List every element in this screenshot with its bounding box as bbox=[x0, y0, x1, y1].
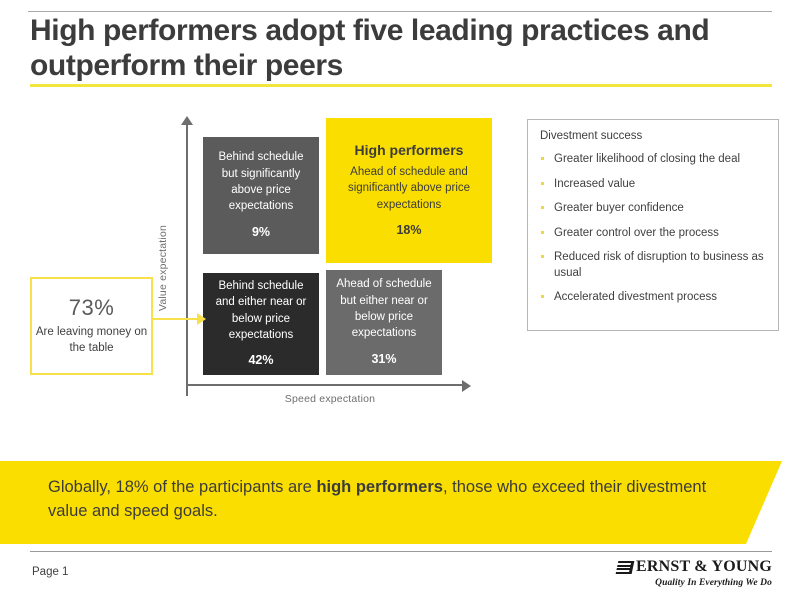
quadrant-top-left[interactable]: Behind schedule but significantly above … bbox=[203, 137, 319, 254]
divestment-success-list: Greater likelihood of closing the deal I… bbox=[540, 152, 768, 306]
quadrant-top-left-body: Behind schedule but significantly above … bbox=[211, 149, 311, 214]
summary-banner-text: Globally, 18% of the participants are hi… bbox=[48, 476, 728, 524]
quadrant-bottom-right-body: Ahead of schedule but either near or bel… bbox=[334, 276, 434, 341]
list-item: Greater control over the process bbox=[540, 226, 768, 242]
list-item: Increased value bbox=[540, 177, 768, 193]
speed-axis-label: Speed expectation bbox=[220, 393, 440, 405]
logo-wordmark-text: ERNST & YOUNG bbox=[636, 558, 772, 576]
speed-axis-line bbox=[186, 384, 464, 386]
list-item-label: Increased value bbox=[554, 178, 635, 190]
list-item: Reduced risk of disruption to business a… bbox=[540, 250, 768, 281]
callout-text: Are leaving money on the table bbox=[32, 325, 151, 356]
value-axis-line bbox=[186, 124, 188, 396]
title-underline-rule bbox=[30, 84, 772, 87]
ernst-young-logo: ERNST & YOUNG Quality In Everything We D… bbox=[617, 558, 772, 588]
divestment-success-panel: Divestment success Greater likelihood of… bbox=[527, 119, 779, 331]
quadrant-bottom-left-body: Behind schedule and either near or below… bbox=[211, 278, 311, 343]
list-item-label: Greater likelihood of closing the deal bbox=[554, 153, 740, 165]
quadrant-top-right-high-performers[interactable]: High performers Ahead of schedule and si… bbox=[326, 118, 492, 263]
value-axis-arrow-icon bbox=[181, 116, 193, 125]
quadrant-top-left-percent: 9% bbox=[252, 224, 270, 242]
page-title: High performers adopt five leading pract… bbox=[30, 13, 770, 83]
leaving-money-callout[interactable]: 73% Are leaving money on the table bbox=[30, 277, 153, 375]
callout-percent: 73% bbox=[69, 295, 115, 321]
quadrant-top-right-percent: 18% bbox=[396, 222, 421, 240]
quadrant-top-right-body: Ahead of schedule and significantly abov… bbox=[334, 164, 484, 213]
header-top-rule bbox=[28, 11, 772, 12]
footer-rule bbox=[30, 551, 772, 552]
value-axis-label: Value expectation bbox=[157, 208, 169, 328]
summary-banner-emphasis: high performers bbox=[316, 478, 443, 496]
list-item: Greater buyer confidence bbox=[540, 201, 768, 217]
quadrant-bottom-right[interactable]: Ahead of schedule but either near or bel… bbox=[326, 270, 442, 375]
list-item: Greater likelihood of closing the deal bbox=[540, 152, 768, 168]
list-item: Accelerated divestment process bbox=[540, 290, 768, 306]
ey-beam-mark-icon bbox=[616, 561, 634, 574]
bullet-icon bbox=[541, 182, 544, 185]
logo-wordmark-row: ERNST & YOUNG bbox=[617, 558, 772, 576]
divestment-success-title: Divestment success bbox=[540, 130, 768, 142]
list-item-label: Reduced risk of disruption to business a… bbox=[554, 251, 764, 279]
speed-axis-arrow-icon bbox=[462, 380, 471, 392]
quadrant-matrix: Value expectation Speed expectation Behi… bbox=[150, 112, 500, 402]
quadrant-bottom-left-percent: 42% bbox=[248, 352, 273, 370]
list-item-label: Greater control over the process bbox=[554, 227, 719, 239]
list-item-label: Accelerated divestment process bbox=[554, 291, 717, 303]
bullet-icon bbox=[541, 206, 544, 209]
quadrant-bottom-right-percent: 31% bbox=[371, 351, 396, 369]
bullet-icon bbox=[541, 231, 544, 234]
quadrant-bottom-left[interactable]: Behind schedule and either near or below… bbox=[203, 273, 319, 375]
logo-tagline: Quality In Everything We Do bbox=[617, 578, 772, 588]
bullet-icon bbox=[541, 255, 544, 258]
quadrant-top-right-heading: High performers bbox=[355, 141, 464, 161]
callout-connector-line bbox=[153, 318, 199, 320]
page-number: Page 1 bbox=[32, 566, 68, 578]
bullet-icon bbox=[541, 157, 544, 160]
list-item-label: Greater buyer confidence bbox=[554, 202, 684, 214]
bullet-icon bbox=[541, 295, 544, 298]
callout-connector-arrow-icon bbox=[197, 313, 206, 325]
summary-banner-lead: Globally, 18% of the participants are bbox=[48, 478, 316, 496]
